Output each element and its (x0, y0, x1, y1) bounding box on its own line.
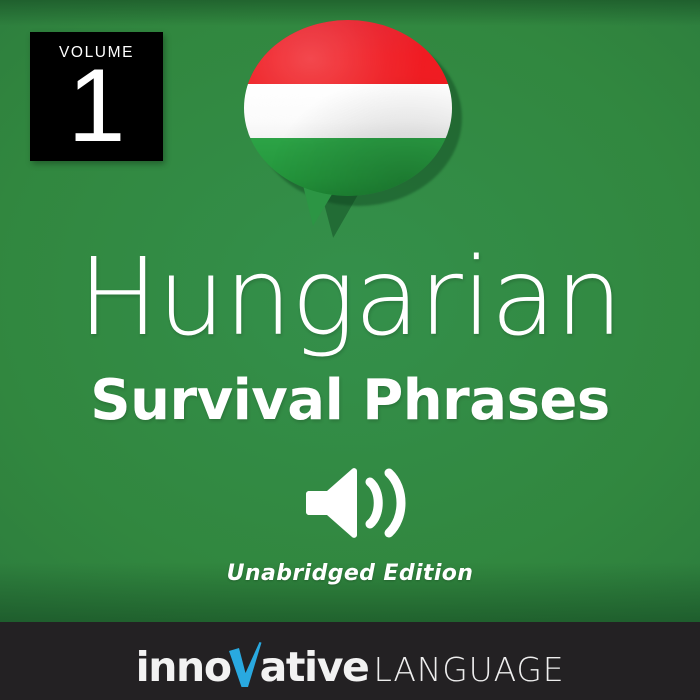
brand-suffix: LANGUAGE (373, 650, 564, 689)
checkmark-v-icon (228, 642, 262, 688)
speech-bubble-body (244, 20, 452, 196)
speaker-volume-icon (305, 466, 409, 540)
page-title: Hungarian (0, 243, 700, 353)
brand-bar: inno ative LANGUAGE (0, 622, 700, 700)
speech-bubble-hungarian-flag (240, 18, 470, 243)
volume-number: 1 (30, 52, 163, 160)
flag-stripe-red (244, 20, 452, 84)
brand-name-part-one: inno (136, 643, 231, 691)
flag-stripe-white (244, 84, 452, 138)
volume-badge: VOLUME 1 (30, 32, 163, 161)
audiobook-cover: VOLUME 1 Hungarian Survival Phrases (0, 0, 700, 700)
flag-stripe-green (244, 138, 452, 196)
brand-name-part-two: ative (260, 643, 369, 691)
innovative-language-logo: inno ative LANGUAGE (136, 635, 565, 691)
edition-label: Unabridged Edition (0, 561, 700, 586)
page-subtitle: Survival Phrases (0, 370, 700, 432)
